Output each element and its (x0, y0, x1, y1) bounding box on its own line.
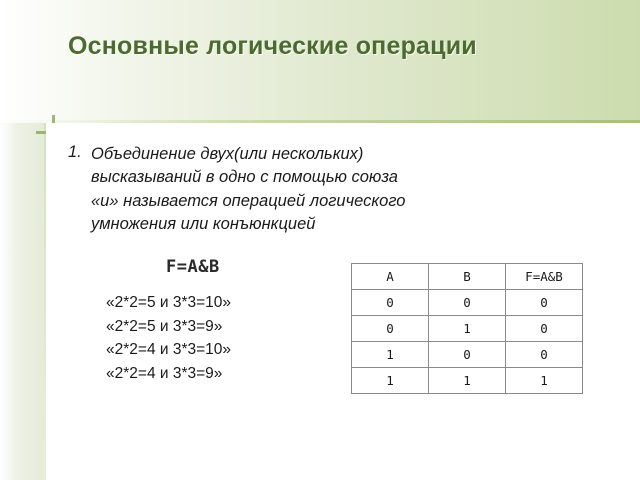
table-row: 0 0 0 (352, 290, 583, 316)
table-header-cell: B (429, 264, 506, 290)
table-header-cell: F=A&B (506, 264, 583, 290)
bullet-paragraph: 1. Объединение двух(или нескольких) выск… (68, 143, 408, 237)
list-item: «2*2=5 и 3*3=10» (106, 291, 231, 315)
bullet-text: Объединение двух(или нескольких) высказы… (91, 143, 408, 237)
slide-body: 1. Объединение двух(или нескольких) выск… (46, 123, 640, 480)
table-row: 1 0 0 (352, 342, 583, 368)
table-cell: 1 (352, 368, 429, 394)
truth-table: A B F=A&B 0 0 0 0 1 0 1 0 0 1 1 (351, 263, 583, 394)
slide: Основные логические операции 1. Объедине… (0, 0, 640, 480)
table-cell: 1 (506, 368, 583, 394)
list-item: «2*2=4 и 3*3=10» (106, 338, 231, 362)
table-cell: 0 (429, 290, 506, 316)
table-cell: 0 (506, 290, 583, 316)
table-cell: 1 (429, 368, 506, 394)
table-cell: 0 (506, 342, 583, 368)
table-cell: 0 (352, 290, 429, 316)
list-item: «2*2=4 и 3*3=9» (106, 362, 231, 386)
table-cell: 1 (429, 316, 506, 342)
table-cell: 0 (352, 316, 429, 342)
bullet-number: 1. (68, 143, 82, 162)
table-cell: 1 (352, 342, 429, 368)
table-row: 0 1 0 (352, 316, 583, 342)
list-item: «2*2=5 и 3*3=9» (106, 315, 231, 339)
table-cell: 0 (429, 342, 506, 368)
table-row: 1 1 1 (352, 368, 583, 394)
page-title: Основные логические операции (68, 30, 608, 62)
table-header-row: A B F=A&B (352, 264, 583, 290)
table-header-cell: A (352, 264, 429, 290)
examples-list: «2*2=5 и 3*3=10» «2*2=5 и 3*3=9» «2*2=4 … (106, 291, 231, 385)
formula-text: F=A&B (166, 257, 220, 277)
table-cell: 0 (506, 316, 583, 342)
